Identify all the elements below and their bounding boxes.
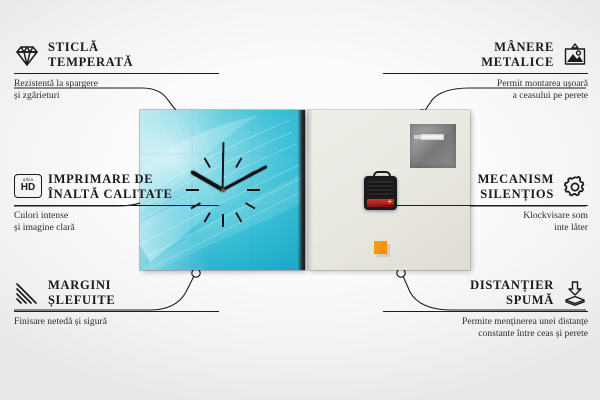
callout-rule	[383, 73, 588, 74]
foam-spacer-pad	[374, 241, 387, 254]
press-down-pad-icon	[562, 280, 588, 306]
feature-callout-edges: MARGINI ȘLEFUITE Finisare netedă și sigu…	[14, 278, 219, 328]
diamond-icon	[14, 42, 40, 68]
feature-callout-glass: STICLĂ TEMPERATĂ Rezistentă la spargere …	[14, 40, 219, 101]
feature-subtitle-edges: Finisare netedă și sigură	[14, 316, 219, 328]
ultra-hd-icon: ultra HD	[14, 174, 40, 200]
callout-rule	[383, 205, 588, 206]
product-infographic: STICLĂ TEMPERATĂ Rezistentă la spargere …	[0, 0, 600, 400]
feature-title-spacer: DISTANȚIER SPUMĂ	[470, 278, 554, 307]
metal-hanger-plate	[410, 124, 456, 168]
callout-rule	[14, 205, 219, 206]
beveled-edges-icon	[14, 280, 40, 306]
feature-callout-hooks: MÂNERE METALICE Permit montarea ușoară a…	[383, 40, 588, 101]
callout-rule	[14, 73, 219, 74]
feature-subtitle-spacer: Permite menținerea unei distanțe constan…	[383, 316, 588, 339]
clock-center-pin	[221, 188, 225, 192]
feature-callout-spacer: DISTANȚIER SPUMĂ Permite menținerea unei…	[383, 278, 588, 339]
callout-rule	[14, 311, 219, 312]
feature-title-mechanism: MECANISM SILENȚIOS	[478, 172, 554, 201]
feature-title-hooks: MÂNERE METALICE	[481, 40, 554, 69]
feature-callout-mechanism: MECANISM SILENȚIOS Klockvisare som inte …	[383, 172, 588, 233]
feature-callout-print: ultra HD IMPRIMARE DE ÎNALTĂ CALITATE Cu…	[14, 172, 219, 233]
feature-subtitle-glass: Rezistentă la spargere și zgârieturi	[14, 78, 219, 101]
callout-rule	[383, 311, 588, 312]
node-edges	[192, 269, 200, 277]
gear-icon	[562, 174, 588, 200]
hanger-slot	[420, 134, 444, 140]
hanging-picture-icon	[562, 42, 588, 68]
feature-subtitle-hooks: Permit montarea ușoară a ceasului pe per…	[383, 78, 588, 101]
feature-title-glass: STICLĂ TEMPERATĂ	[48, 40, 133, 69]
feature-subtitle-mechanism: Klockvisare som inte låter	[383, 210, 588, 233]
feature-title-print: IMPRIMARE DE ÎNALTĂ CALITATE	[48, 172, 173, 201]
feature-subtitle-print: Culori intense și imagine clară	[14, 210, 219, 233]
feature-title-edges: MARGINI ȘLEFUITE	[48, 278, 115, 307]
node-spacer	[397, 269, 405, 277]
